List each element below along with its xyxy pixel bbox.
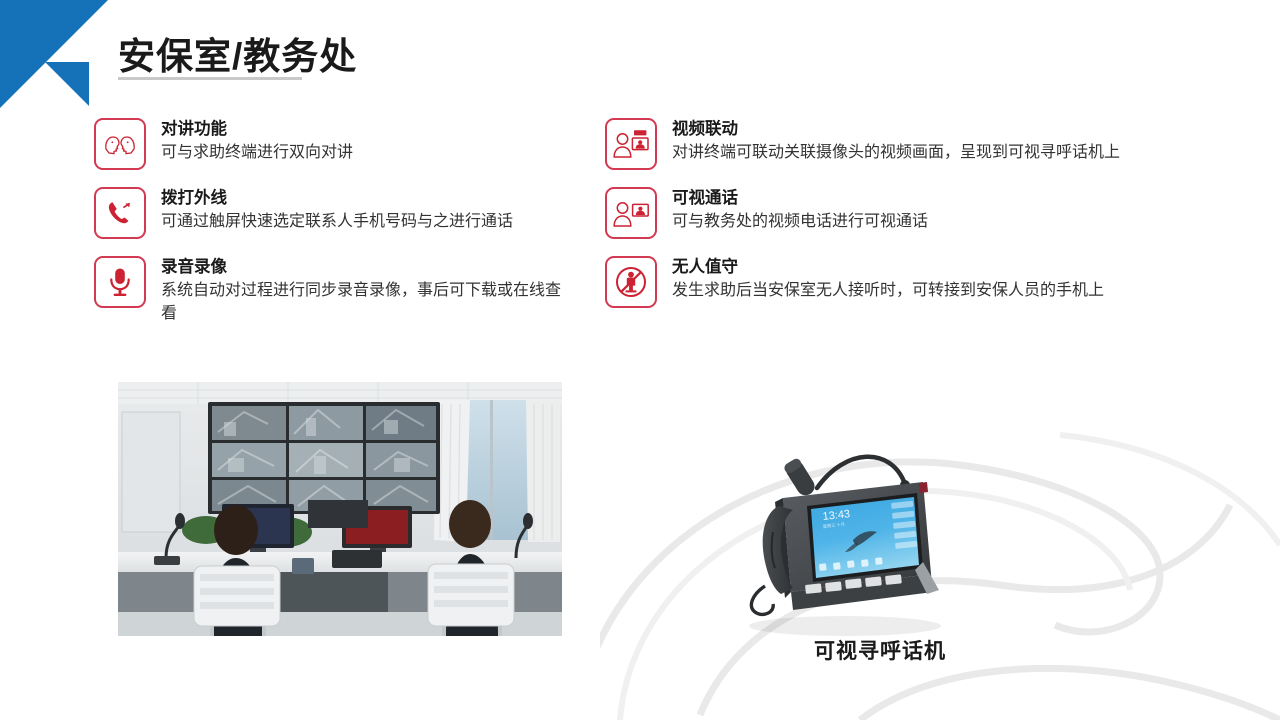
feature-item-intercom: 对讲功能 可与求助终端进行双向对讲: [94, 118, 574, 170]
feature-text: 对讲功能 可与求助终端进行双向对讲: [161, 118, 353, 165]
feature-list: 对讲功能 可与求助终端进行双向对讲 拨打外线 可通过触屏快速选定联系人手机号码与…: [0, 118, 1280, 368]
person-video-call-icon: [605, 187, 657, 239]
feature-title: 对讲功能: [161, 119, 353, 140]
title-underline: [118, 77, 302, 80]
feature-text: 录音录像 系统自动对过程进行同步录音录像，事后可下载或在线查看: [161, 256, 574, 326]
feature-title: 无人值守: [672, 257, 1104, 278]
feature-description: 系统自动对过程进行同步录音录像，事后可下载或在线查看: [161, 280, 574, 325]
device-showcase: 13:43 星期三 十月: [600, 415, 1280, 720]
feature-description: 可通过触屏快速选定联系人手机号码与之进行通话: [161, 211, 513, 234]
feature-column-left: 对讲功能 可与求助终端进行双向对讲 拨打外线 可通过触屏快速选定联系人手机号码与…: [94, 118, 574, 343]
feature-description: 对讲终端可联动关联摄像头的视频画面，呈现到可视寻呼话机上: [672, 142, 1120, 165]
feature-text: 视频联动 对讲终端可联动关联摄像头的视频画面，呈现到可视寻呼话机上: [672, 118, 1120, 165]
feature-title: 可视通话: [672, 188, 928, 209]
feature-item-unattended: 无人值守 发生求助后当安保室无人接听时，可转接到安保人员的手机上: [605, 256, 1165, 308]
feature-title: 拨打外线: [161, 188, 513, 209]
device-caption: 可视寻呼话机: [750, 635, 1010, 665]
feature-text: 可视通话 可与教务处的视频电话进行可视通话: [672, 187, 928, 234]
two-faces-intercom-icon: [94, 118, 146, 170]
feature-description: 发生求助后当安保室无人接听时，可转接到安保人员的手机上: [672, 280, 1104, 303]
feature-title: 视频联动: [672, 119, 1120, 140]
person-video-screen-icon: [605, 118, 657, 170]
feature-description: 可与求助终端进行双向对讲: [161, 142, 353, 165]
no-person-unattended-icon: [605, 256, 657, 308]
feature-item-recording: 录音录像 系统自动对过程进行同步录音录像，事后可下载或在线查看: [94, 256, 574, 326]
feature-item-outside-line: 拨打外线 可通过触屏快速选定联系人手机号码与之进行通话: [94, 187, 574, 239]
blue-triangle-logo: [0, 0, 108, 108]
page-title: 安保室/教务处: [118, 26, 357, 80]
feature-title: 录音录像: [161, 257, 574, 278]
microphone-record-icon: [94, 256, 146, 308]
feature-text: 无人值守 发生求助后当安保室无人接听时，可转接到安保人员的手机上: [672, 256, 1104, 303]
video-paging-phone-image: 13:43 星期三 十月: [695, 440, 995, 640]
feature-description: 可与教务处的视频电话进行可视通话: [672, 211, 928, 234]
feature-column-right: 视频联动 对讲终端可联动关联摄像头的视频画面，呈现到可视寻呼话机上 可视通话 可…: [605, 118, 1165, 325]
feature-item-video-call: 可视通话 可与教务处的视频电话进行可视通话: [605, 187, 1165, 239]
feature-item-video-linkage: 视频联动 对讲终端可联动关联摄像头的视频画面，呈现到可视寻呼话机上: [605, 118, 1165, 170]
phone-outgoing-call-icon: [94, 187, 146, 239]
feature-text: 拨打外线 可通过触屏快速选定联系人手机号码与之进行通话: [161, 187, 513, 234]
security-control-room-photo: [118, 382, 562, 636]
